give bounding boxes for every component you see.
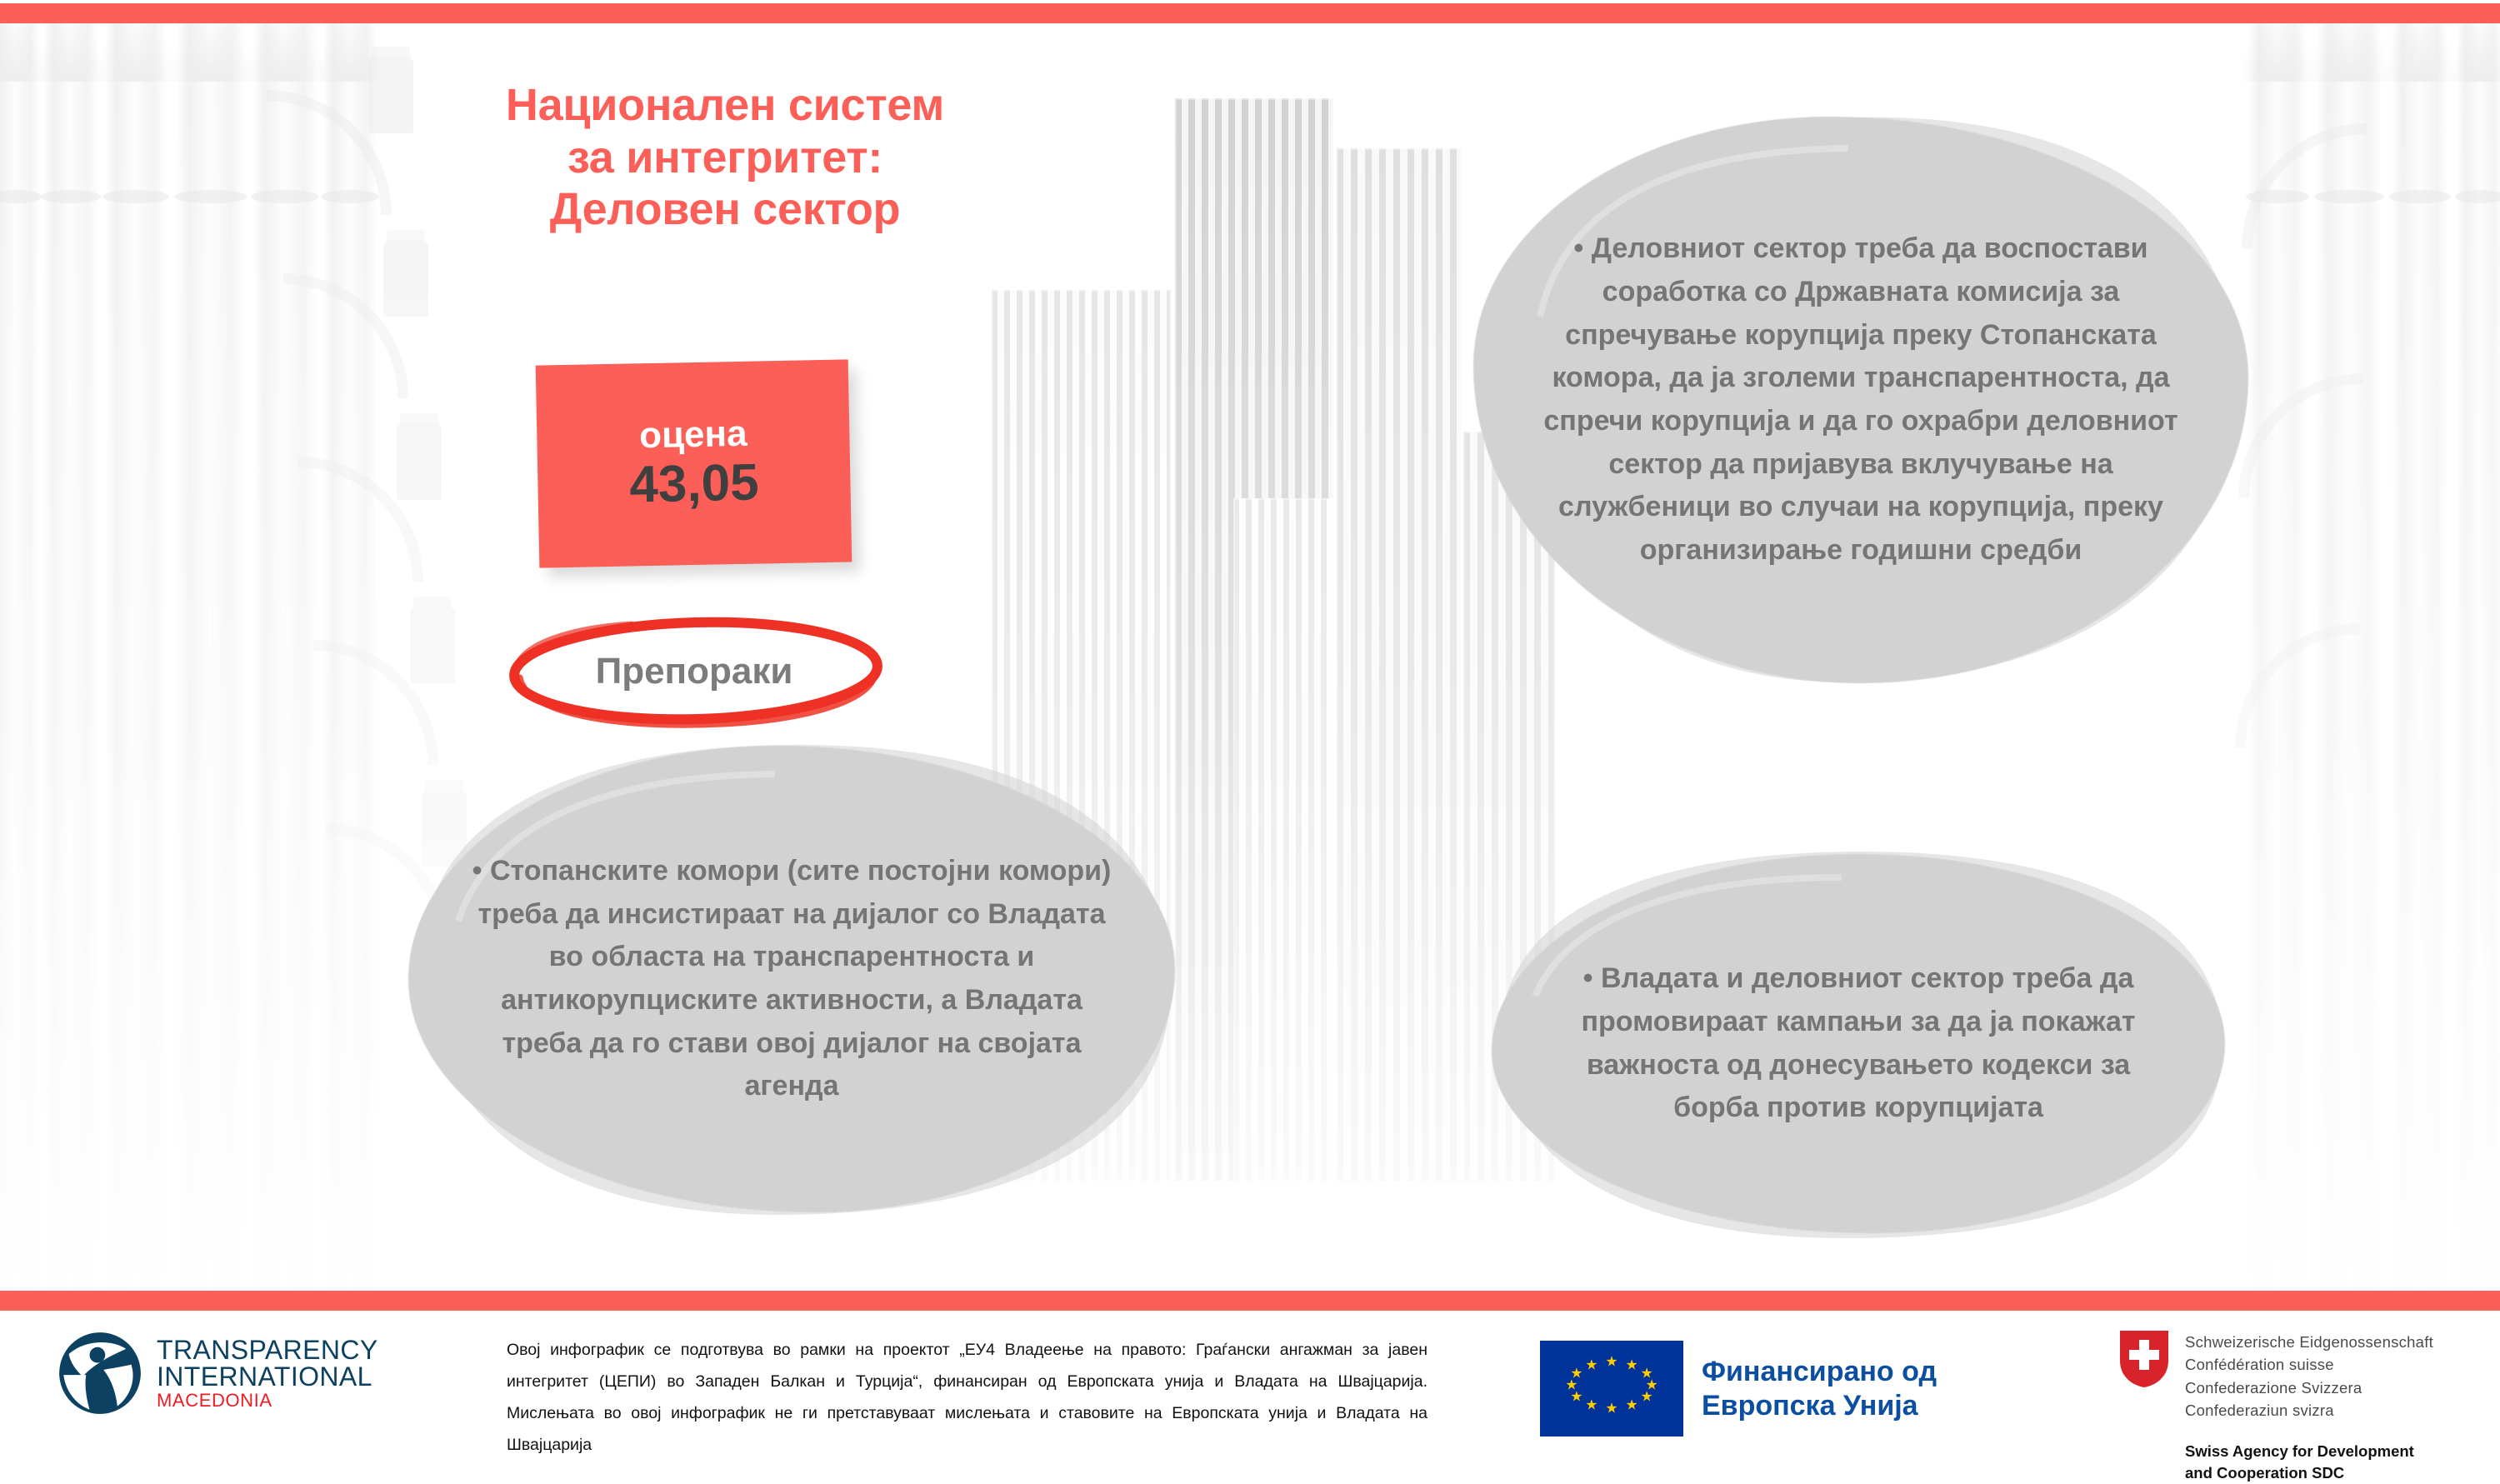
bubble-text: • Владата и деловниот сектор треба да пр… bbox=[1550, 957, 2167, 1130]
swiss-agency-line-2: and Cooperation SDC bbox=[2185, 1462, 2433, 1484]
bubble-text: • Деловниот сектор треба да воспостави с… bbox=[1540, 227, 2182, 572]
swiss-sdc-logo: Schweizerische Eidgenossenschaft Confédé… bbox=[2118, 1329, 2433, 1484]
recommendations-heading: Препораки bbox=[498, 612, 890, 733]
swiss-agency-line-1: Swiss Agency for Development bbox=[2185, 1441, 2433, 1462]
title-line-1: Национален систем bbox=[433, 79, 1017, 132]
ti-logo-line-1: TRANSPARENCY bbox=[157, 1337, 378, 1363]
eu-text-line-1: Финансирано од bbox=[1702, 1355, 1937, 1389]
recommendation-bubble-2: • Стопанските комори (сите постојни комо… bbox=[408, 746, 1175, 1212]
disclaimer-text: Овој инфографик се подготвува во рамки н… bbox=[507, 1334, 1427, 1461]
swiss-shield-icon bbox=[2118, 1329, 2170, 1389]
footer: TRANSPARENCY INTERNATIONAL MACEDONIA Ово… bbox=[0, 1311, 2500, 1478]
swiss-line-2: Confédération suisse bbox=[2185, 1353, 2433, 1376]
recommendation-bubble-1: • Деловниот сектор треба да воспостави с… bbox=[1473, 117, 2248, 683]
eu-flag-icon: ★ ★ ★ ★ ★ ★ ★ ★ ★ ★ ★ ★ bbox=[1540, 1341, 1683, 1437]
swiss-line-3: Confederazione Svizzera bbox=[2185, 1377, 2433, 1399]
swiss-line-1: Schweizerische Eidgenossenschaft bbox=[2185, 1331, 2433, 1353]
recommendations-label: Препораки bbox=[498, 612, 890, 733]
title-line-3: Деловен сектор bbox=[433, 183, 1017, 236]
score-value: 43,05 bbox=[629, 455, 759, 512]
score-label: оцена bbox=[639, 416, 747, 454]
score-card: оцена 43,05 bbox=[536, 359, 852, 567]
eu-text-line-2: Европска Унија bbox=[1702, 1389, 1937, 1423]
page-title: Национален систем за интегритет: Деловен… bbox=[433, 79, 1017, 236]
ti-globe-figure-icon bbox=[57, 1330, 143, 1417]
title-line-2: за интегритет: bbox=[433, 132, 1017, 184]
bubble-text: • Стопанските комори (сите постојни комо… bbox=[462, 850, 1121, 1108]
bottom-accent-bar bbox=[0, 1291, 2500, 1311]
ti-logo-line-3: MACEDONIA bbox=[157, 1392, 378, 1410]
top-accent-bar bbox=[0, 3, 2500, 23]
swiss-line-4: Confederaziun svizra bbox=[2185, 1399, 2433, 1422]
ti-logo-line-2: INTERNATIONAL bbox=[157, 1363, 378, 1390]
transparency-international-logo: TRANSPARENCY INTERNATIONAL MACEDONIA bbox=[57, 1330, 378, 1417]
eu-funding-logo: ★ ★ ★ ★ ★ ★ ★ ★ ★ ★ ★ ★ Финансирано од Е… bbox=[1540, 1341, 1937, 1437]
recommendation-bubble-3: • Владата и деловниот сектор треба да пр… bbox=[1492, 854, 2225, 1233]
